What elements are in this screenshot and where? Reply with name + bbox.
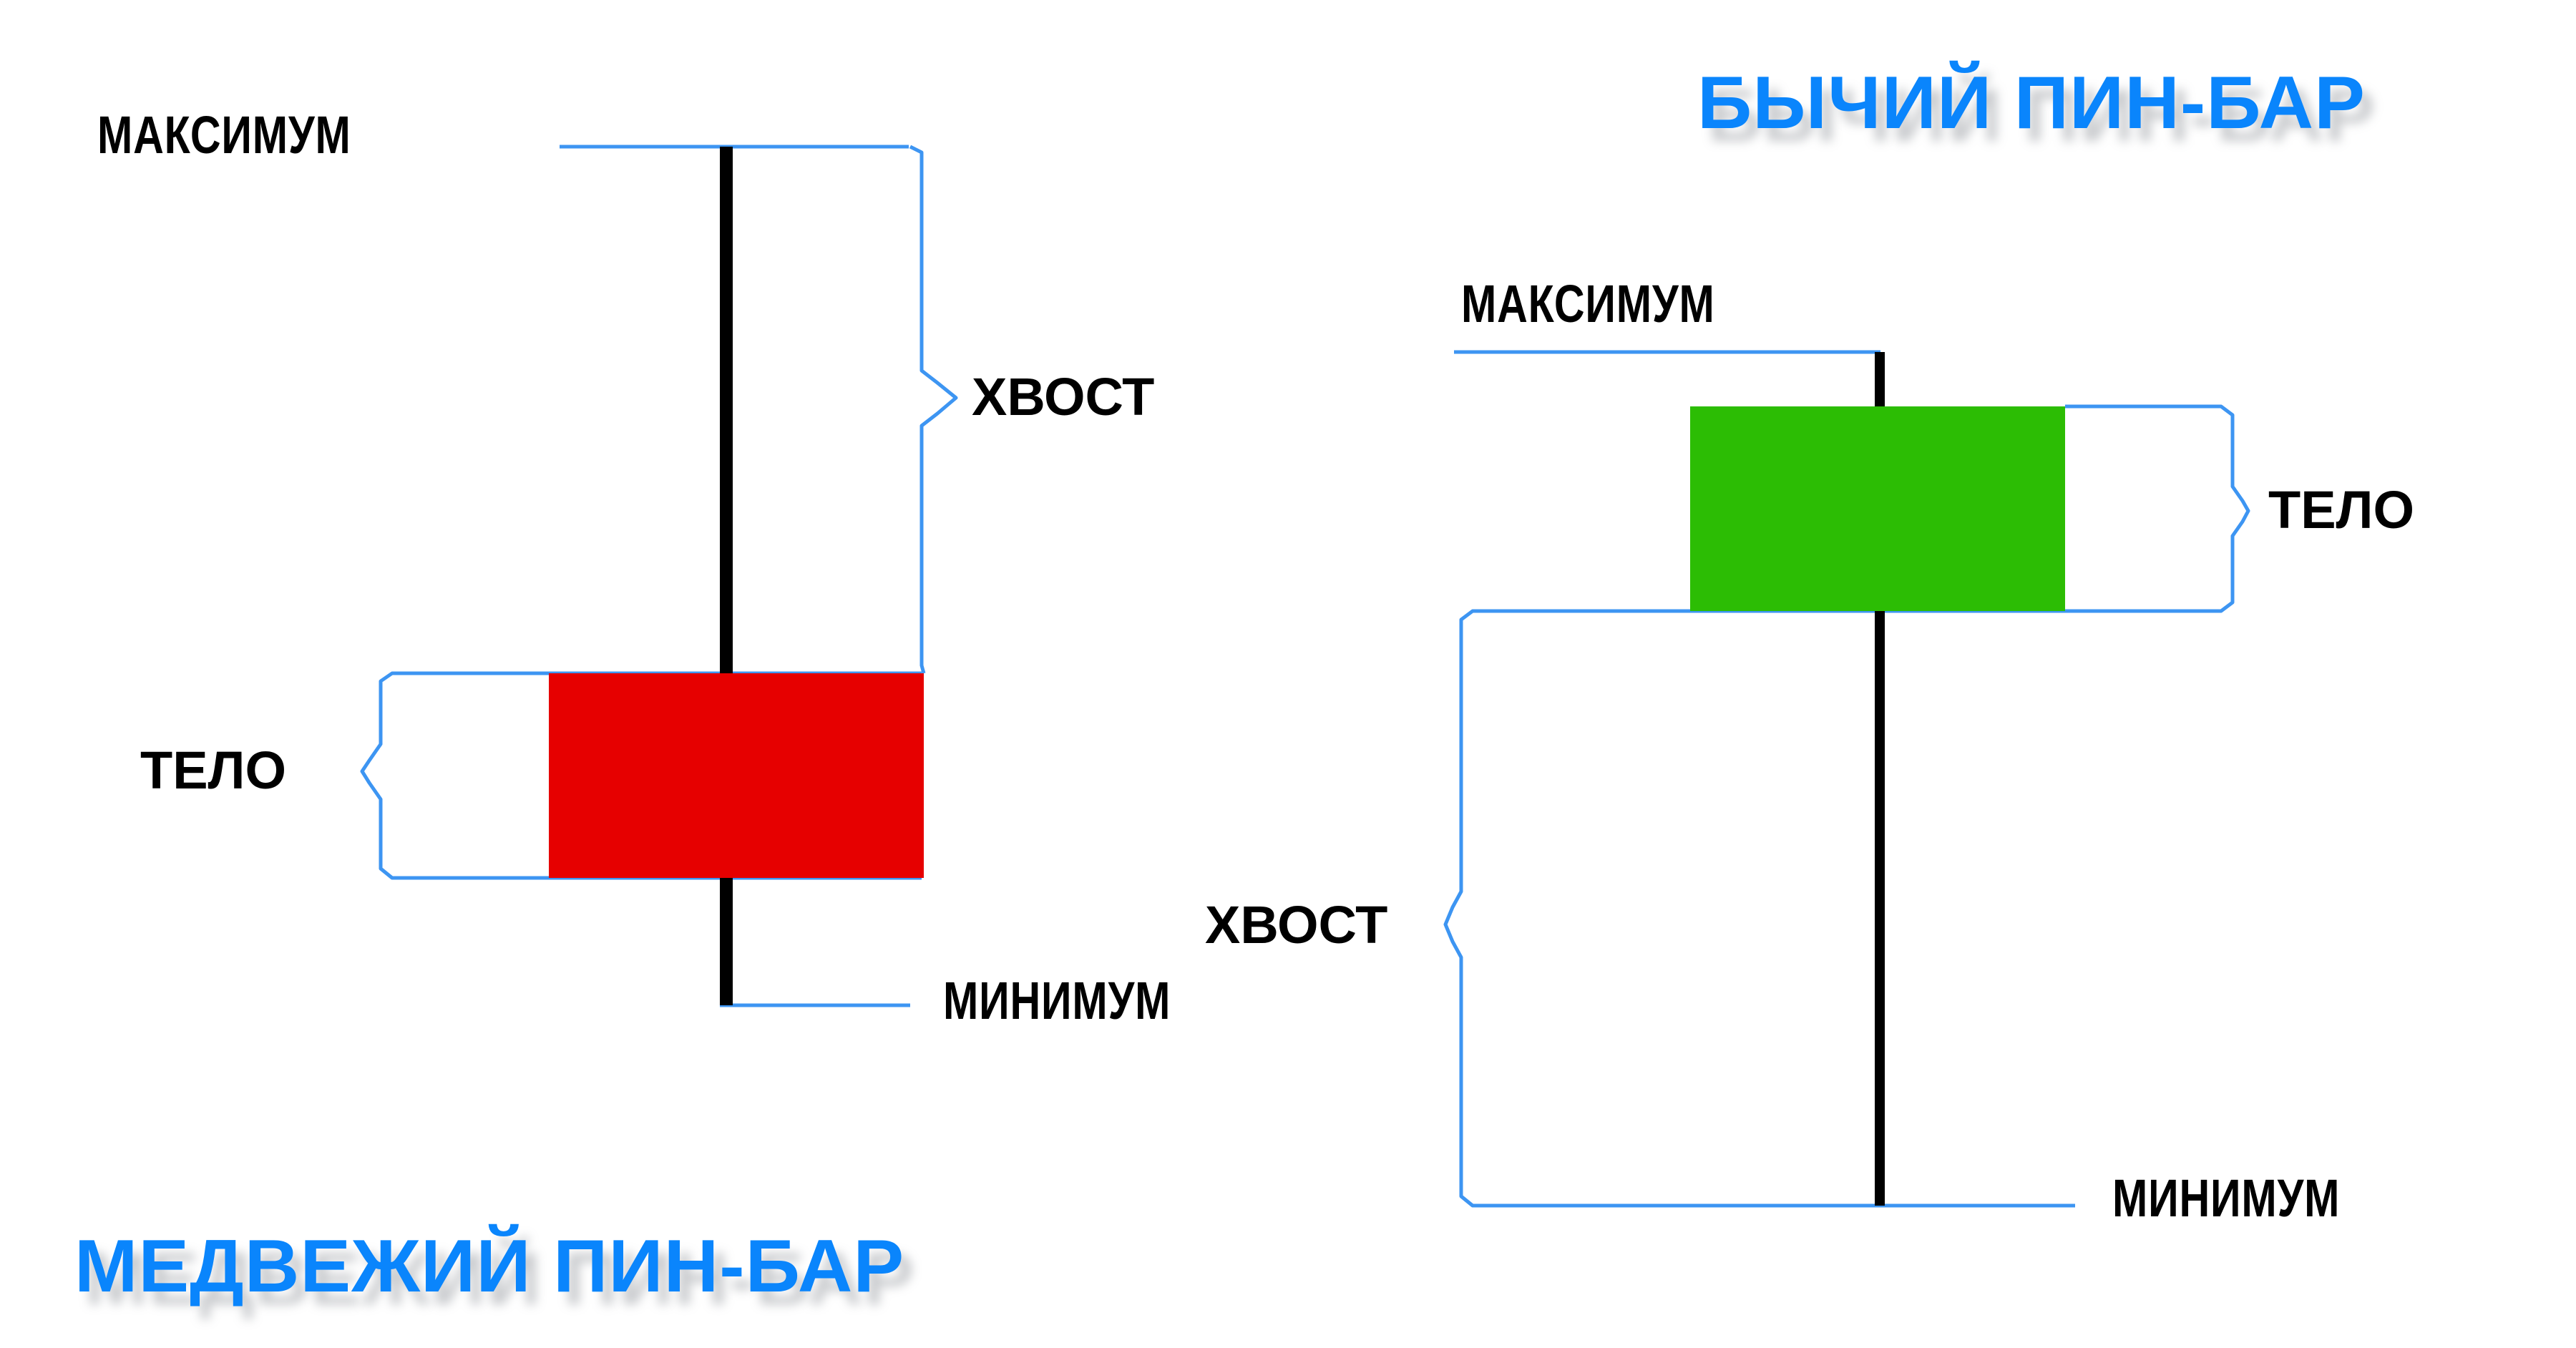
bullish-tail-label: ХВОСТ — [1205, 899, 1387, 952]
bearish-tail-label: ХВОСТ — [972, 371, 1154, 424]
diagram-canvas: МАКСИМУМ ХВОСТ ТЕЛО МИНИМУМ МЕДВЕЖИЙ ПИН… — [0, 0, 2576, 1348]
bullish-section-title: БЫЧИЙ ПИН-БАР — [1697, 66, 2366, 140]
bearish-tail-brace — [910, 147, 956, 673]
bearish-high-label: МАКСИМУМ — [97, 109, 351, 162]
bullish-tail-brace — [1445, 611, 2065, 1206]
annotation-lines — [0, 0, 2576, 1348]
bearish-body-label: ТЕЛО — [140, 744, 286, 797]
bullish-candle-body — [1690, 406, 2065, 611]
bearish-low-label: МИНИМУМ — [943, 975, 1171, 1027]
bearish-section-title: МЕДВЕЖИЙ ПИН-БАР — [74, 1229, 904, 1304]
bullish-body-brace — [2065, 406, 2248, 611]
bearish-candle-body — [549, 673, 924, 878]
bullish-high-label: МАКСИМУМ — [1461, 278, 1715, 331]
bullish-body-label: ТЕЛО — [2268, 484, 2414, 537]
bullish-low-label: МИНИМУМ — [2112, 1172, 2340, 1225]
